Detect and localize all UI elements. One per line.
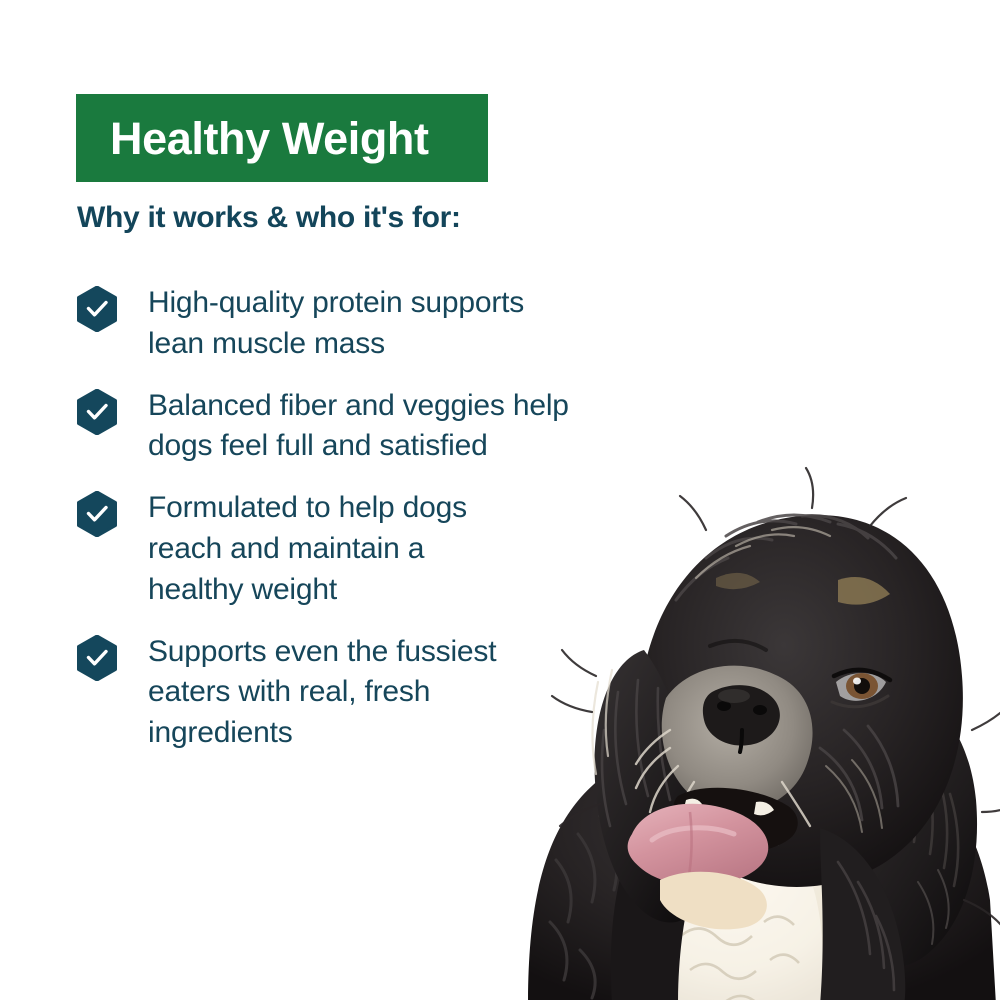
benefits-list: High-quality protein supports lean muscl… — [76, 283, 686, 775]
benefit-text: Supports even the fussiest eaters with r… — [148, 632, 496, 754]
healthy-weight-banner: Healthy Weight — [76, 94, 488, 182]
benefit-text: Formulated to help dogs reach and mainta… — [148, 488, 467, 610]
list-item: Balanced fiber and veggies help dogs fee… — [76, 386, 686, 468]
check-hexagon-icon — [76, 286, 118, 332]
benefit-text: Balanced fiber and veggies help dogs fee… — [148, 386, 569, 468]
list-item: Supports even the fussiest eaters with r… — [76, 632, 686, 754]
check-hexagon-icon — [76, 389, 118, 435]
check-hexagon-icon — [76, 635, 118, 681]
product-benefits-panel: Healthy Weight Why it works & who it's f… — [0, 0, 1000, 1000]
subheading: Why it works & who it's for: — [77, 201, 461, 235]
check-hexagon-icon — [76, 491, 118, 537]
list-item: Formulated to help dogs reach and mainta… — [76, 488, 686, 610]
benefit-text: High-quality protein supports lean muscl… — [148, 283, 524, 365]
list-item: High-quality protein supports lean muscl… — [76, 283, 686, 365]
banner-title: Healthy Weight — [110, 116, 429, 161]
